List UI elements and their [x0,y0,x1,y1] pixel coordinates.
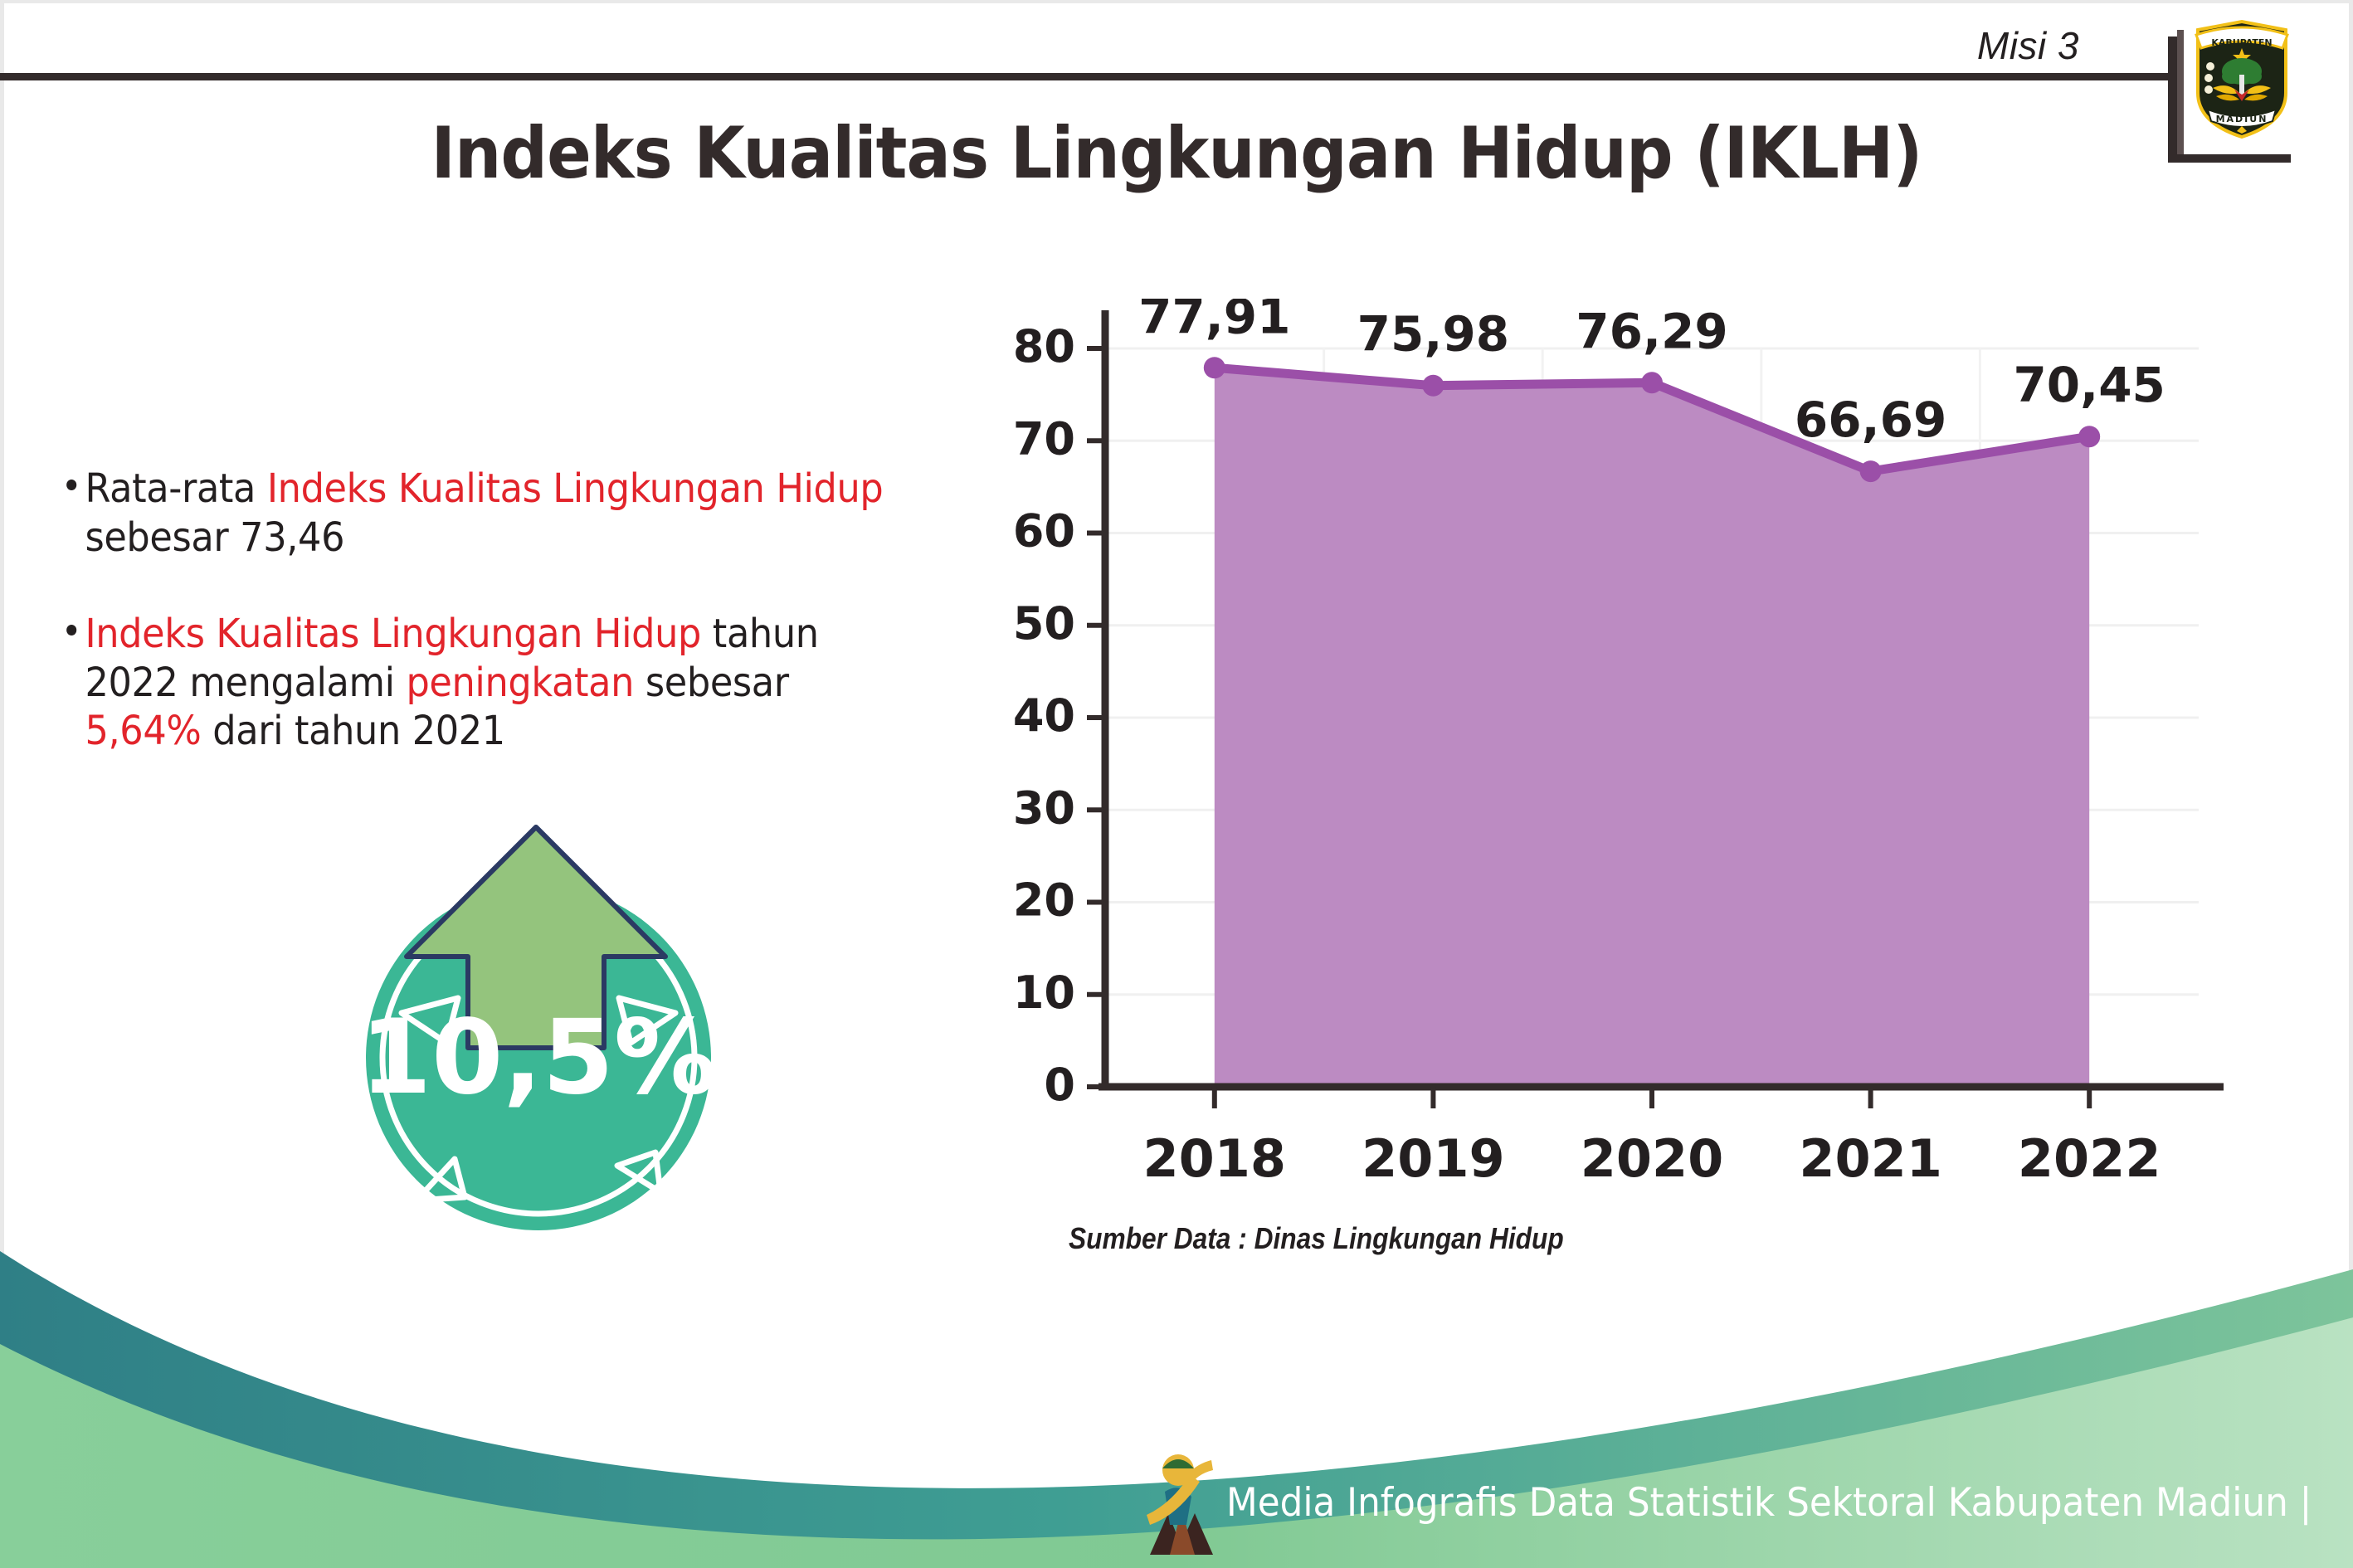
bullet-dot-icon [66,625,76,635]
x-axis-tick-label: 2021 [1799,1128,1942,1189]
chart-x-tick-labels: 20182019202020212022 [1143,1128,2161,1189]
bullet-highlight: peningkatan [406,660,634,706]
y-axis-tick-label: 60 [1013,505,1075,558]
x-axis-tick-label: 2019 [1362,1128,1505,1189]
bullet-text: Indeks Kualitas Lingkungan Hidup tahun 2… [68,610,886,756]
header-divider-rule [0,73,2171,80]
y-axis-tick-label: 50 [1013,597,1075,650]
page-border-left [0,0,4,1568]
x-axis-tick-label: 2022 [2018,1128,2161,1189]
iklh-area-chart: 01020304050607080 20182019202020212022 7… [979,299,2232,1278]
data-point-label: 70,45 [2013,357,2165,413]
chart-area-fill [1215,368,2089,1087]
page-border-right [2349,0,2353,1568]
data-point-label: 76,29 [1576,303,1727,359]
statistics-figure-icon [1135,1445,1225,1561]
y-axis-tick-label: 30 [1013,782,1075,834]
y-axis-tick-label: 80 [1013,320,1075,373]
list-item: Rata-rata Indeks Kualitas Lingkungan Hid… [68,465,886,562]
misi-label: Misi 3 [1977,23,2079,68]
data-point-label: 66,69 [1795,392,1946,448]
bullet-plain: dari tahun 2021 [201,708,504,754]
bullet-highlight: Indeks Kualitas Lingkungan Hidup [85,611,701,657]
bullet-highlight: 5,64% [85,708,201,754]
page-title: Indeks Kualitas Lingkungan Hidup (IKLH) [94,112,2258,195]
bullet-highlight: Indeks Kualitas Lingkungan Hidup [267,465,884,512]
footer-caption: Media Infografis Data Statistik Sektoral… [1226,1480,2312,1526]
logo-top-text-label: KABUPATEN [2211,37,2272,48]
x-axis-tick-label: 2020 [1581,1128,1724,1189]
x-axis-tick-label: 2018 [1143,1128,1287,1189]
y-axis-tick-label: 70 [1013,412,1075,465]
chart-y-tick-labels: 01020304050607080 [1013,320,1075,1111]
y-axis-tick-label: 10 [1013,967,1075,1019]
increase-badge: 10,5% [330,817,747,1234]
insight-bullet-list: Rata-rata Indeks Kualitas Lingkungan Hid… [68,465,948,804]
page-border-top [0,0,2353,3]
infographic-page: Misi 3 KABUPATEN [0,0,2353,1568]
badge-value: 10,5% [360,998,717,1118]
bullet-dot-icon [66,480,76,490]
bullet-plain: sebesar [634,660,789,706]
data-point-label: 75,98 [1357,306,1509,363]
y-axis-tick-label: 40 [1013,689,1075,742]
chart-source-note: Sumber Data : Dinas Lingkungan Hidup [1069,1221,1564,1256]
bullet-text: Rata-rata Indeks Kualitas Lingkungan Hid… [68,465,886,562]
bullet-plain: sebesar 73,46 [85,514,344,561]
y-axis-tick-label: 0 [1044,1059,1075,1111]
page-border-bottom [0,1565,2353,1568]
bullet-plain: Rata-rata [85,465,266,512]
y-axis-tick-label: 20 [1013,874,1075,927]
data-point-label: 77,91 [1138,299,1290,344]
list-item: Indeks Kualitas Lingkungan Hidup tahun 2… [68,610,886,756]
